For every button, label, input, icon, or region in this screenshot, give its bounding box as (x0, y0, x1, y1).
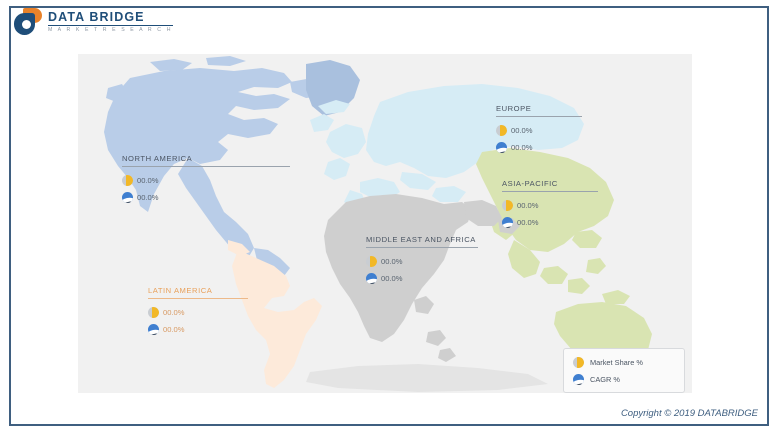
market-share-icon (148, 307, 159, 318)
region-metric-value: 00.0% (163, 308, 185, 317)
region-metric-value: 00.0% (137, 176, 159, 185)
cagr-icon (148, 324, 159, 335)
cagr-icon (502, 217, 513, 228)
region-callout-latin-america[interactable]: LATIN AMERICA 00.0% 00.0% (148, 286, 248, 340)
region-rule (366, 247, 478, 248)
legend-item-market-share: Market Share % (573, 356, 675, 368)
brand-tagline: M A R K E T R E S E A R C H (48, 28, 173, 33)
cagr-icon (496, 142, 507, 153)
brand-name: DATA BRIDGE (48, 11, 173, 27)
region-metric-cagr: 00.0% (148, 323, 248, 335)
region-metric-value: 00.0% (517, 218, 539, 227)
market-share-icon (122, 175, 133, 186)
market-share-icon (496, 125, 507, 136)
region-metric-cagr: 00.0% (122, 191, 290, 203)
region-metric-value: 00.0% (511, 126, 533, 135)
market-share-icon (573, 357, 584, 368)
region-metric-value: 00.0% (517, 201, 539, 210)
brand-logo: DATA BRIDGE M A R K E T R E S E A R C H (14, 8, 173, 36)
region-title: ASIA-PACIFIC (502, 179, 598, 188)
region-metric-value: 00.0% (381, 257, 403, 266)
region-metric-value: 00.0% (381, 274, 403, 283)
region-callout-europe[interactable]: EUROPE 00.0% 00.0% (496, 104, 582, 158)
region-metric-value: 00.0% (511, 143, 533, 152)
region-callout-middle-east-and-africa[interactable]: MIDDLE EAST AND AFRICA 00.0% 00.0% (366, 235, 478, 289)
region-rule (122, 166, 290, 167)
region-metric-cagr: 00.0% (496, 141, 582, 153)
cagr-icon (573, 374, 584, 385)
region-metric-market-share: 00.0% (496, 124, 582, 136)
map-legend: Market Share % CAGR % (563, 348, 685, 393)
legend-label: CAGR % (590, 375, 620, 384)
cagr-icon (366, 273, 377, 284)
copyright-notice: Copyright © 2019 DATABRIDGE (621, 408, 758, 419)
region-metric-market-share: 00.0% (148, 306, 248, 318)
region-metric-market-share: 00.0% (502, 199, 598, 211)
slide-root: DATA BRIDGE M A R K E T R E S E A R C H (0, 0, 780, 440)
legend-label: Market Share % (590, 358, 643, 367)
region-metric-value: 00.0% (137, 193, 159, 202)
world-map-svg (78, 54, 692, 393)
region-title: LATIN AMERICA (148, 286, 248, 295)
region-callout-asia-pacific[interactable]: ASIA-PACIFIC 00.0% 00.0% (502, 179, 598, 233)
region-rule (502, 191, 598, 192)
region-callout-north-america[interactable]: NORTH AMERICA 00.0% 00.0% (122, 154, 290, 208)
legend-item-cagr: CAGR % (573, 373, 675, 385)
region-metric-cagr: 00.0% (502, 216, 598, 228)
data-bridge-b-mark-icon (14, 8, 42, 36)
region-metric-market-share: 00.0% (366, 255, 478, 267)
world-map-panel: NORTH AMERICA 00.0% 00.0% LATIN AMERICA (78, 54, 692, 393)
region-title: MIDDLE EAST AND AFRICA (366, 235, 478, 244)
region-metric-market-share: 00.0% (122, 174, 290, 186)
region-title: NORTH AMERICA (122, 154, 290, 163)
region-metric-cagr: 00.0% (366, 272, 478, 284)
market-share-icon (366, 256, 377, 267)
region-rule (148, 298, 248, 299)
cagr-icon (122, 192, 133, 203)
market-share-icon (502, 200, 513, 211)
region-title: EUROPE (496, 104, 582, 113)
region-metric-value: 00.0% (163, 325, 185, 334)
region-rule (496, 116, 582, 117)
